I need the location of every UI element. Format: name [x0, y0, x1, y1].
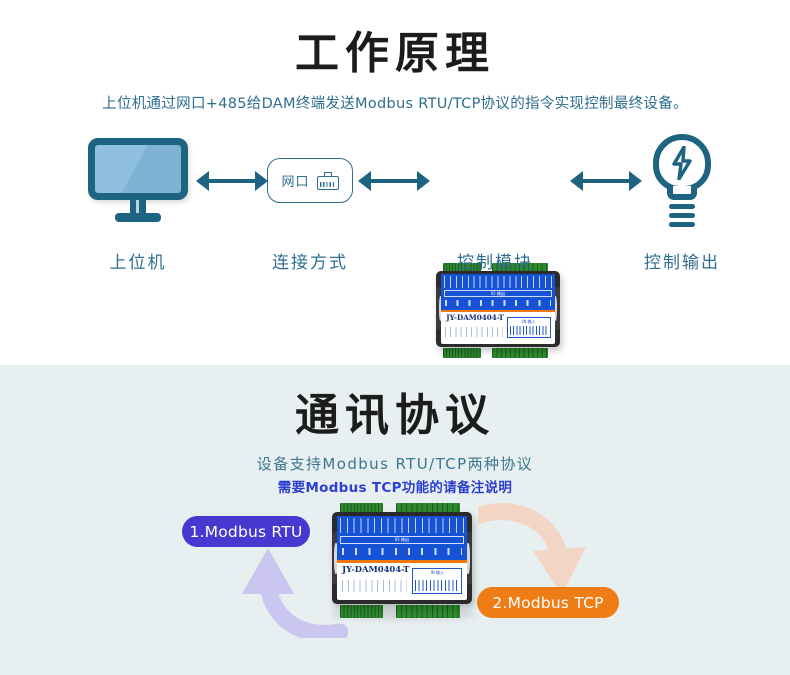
device-faceplate: IO 输出 JY-DAM0404-T IN 输入	[441, 274, 556, 344]
rj45-icon	[317, 172, 339, 190]
page-root: 工作原理 上位机通过网口+485给DAM终端发送Modbus RTU/TCP协议…	[0, 0, 790, 675]
curved-arrow-to-tcp-icon	[478, 495, 593, 600]
device-input-label: IN 输入	[413, 570, 461, 576]
flow-caption-host: 上位机	[78, 248, 198, 273]
protocol-subtitle-line1: 设备支持Modbus RTU/TCP两种协议	[0, 453, 790, 474]
lightbulb-icon	[643, 134, 721, 230]
protocol-subtitle-line2: 需要Modbus TCP功能的请备注说明	[0, 476, 790, 496]
device-output-panel: IO 输出	[337, 516, 468, 560]
device-output-panel: IO 输出	[441, 274, 556, 310]
flow-caption-control-module: 控制模块	[435, 248, 555, 273]
device-input-box: IN 输入	[507, 317, 551, 338]
network-port-box: 网口	[267, 158, 353, 203]
monitor-base	[115, 213, 161, 222]
flow-diagram: 网口 IO 输出	[0, 130, 790, 245]
page-title-work-principle: 工作原理	[0, 28, 790, 80]
flow-caption-control-output: 控制输出	[622, 248, 742, 273]
badge-modbus-rtu[interactable]: 1.Modbus RTU	[182, 516, 310, 547]
double-arrow-icon-3	[570, 170, 642, 192]
device-shell: IO 输出 JY-DAM0404-T IN 输入	[332, 512, 473, 604]
device-input-box: IN 输入	[412, 568, 462, 593]
device-module-icon-bottom: IO 输出 JY-DAM0404-T IN 输入	[322, 503, 482, 618]
monitor-neck	[130, 200, 146, 214]
device-led-row	[445, 300, 550, 307]
section-work-principle: 工作原理 上位机通过网口+485给DAM终端发送Modbus RTU/TCP协议…	[0, 0, 790, 365]
device-model-label: JY-DAM0404-T	[337, 564, 416, 574]
device-output-label: IO 输出	[444, 290, 552, 297]
flow-captions: 上位机 连接方式 控制模块 控制输出	[0, 248, 790, 278]
badge-modbus-tcp[interactable]: 2.Modbus TCP	[477, 587, 619, 618]
device-orange-stripe	[441, 310, 556, 312]
device-lower-markings	[445, 327, 502, 337]
monitor-screen	[88, 138, 188, 200]
device-lower-markings	[342, 580, 407, 592]
device-output-label: IO 输出	[340, 536, 463, 545]
device-model-label: JY-DAM0404-T	[441, 313, 510, 322]
double-arrow-icon-2	[358, 170, 430, 192]
network-port-label: 网口	[281, 171, 309, 190]
device-faceplate: IO 输出 JY-DAM0404-T IN 输入	[337, 516, 468, 601]
device-led-row	[342, 548, 462, 556]
monitor-icon	[88, 138, 188, 228]
double-arrow-icon-1	[196, 170, 268, 192]
lightning-bolt-icon	[670, 146, 694, 180]
flow-caption-connection: 连接方式	[250, 248, 370, 273]
device-orange-stripe	[337, 560, 468, 563]
device-shell: IO 输出 JY-DAM0404-T IN 输入	[436, 271, 559, 347]
page-title-protocol: 通讯协议	[0, 390, 790, 442]
device-input-label: IN 输入	[508, 319, 550, 325]
work-principle-subtitle: 上位机通过网口+485给DAM终端发送Modbus RTU/TCP协议的指令实现…	[0, 92, 790, 113]
